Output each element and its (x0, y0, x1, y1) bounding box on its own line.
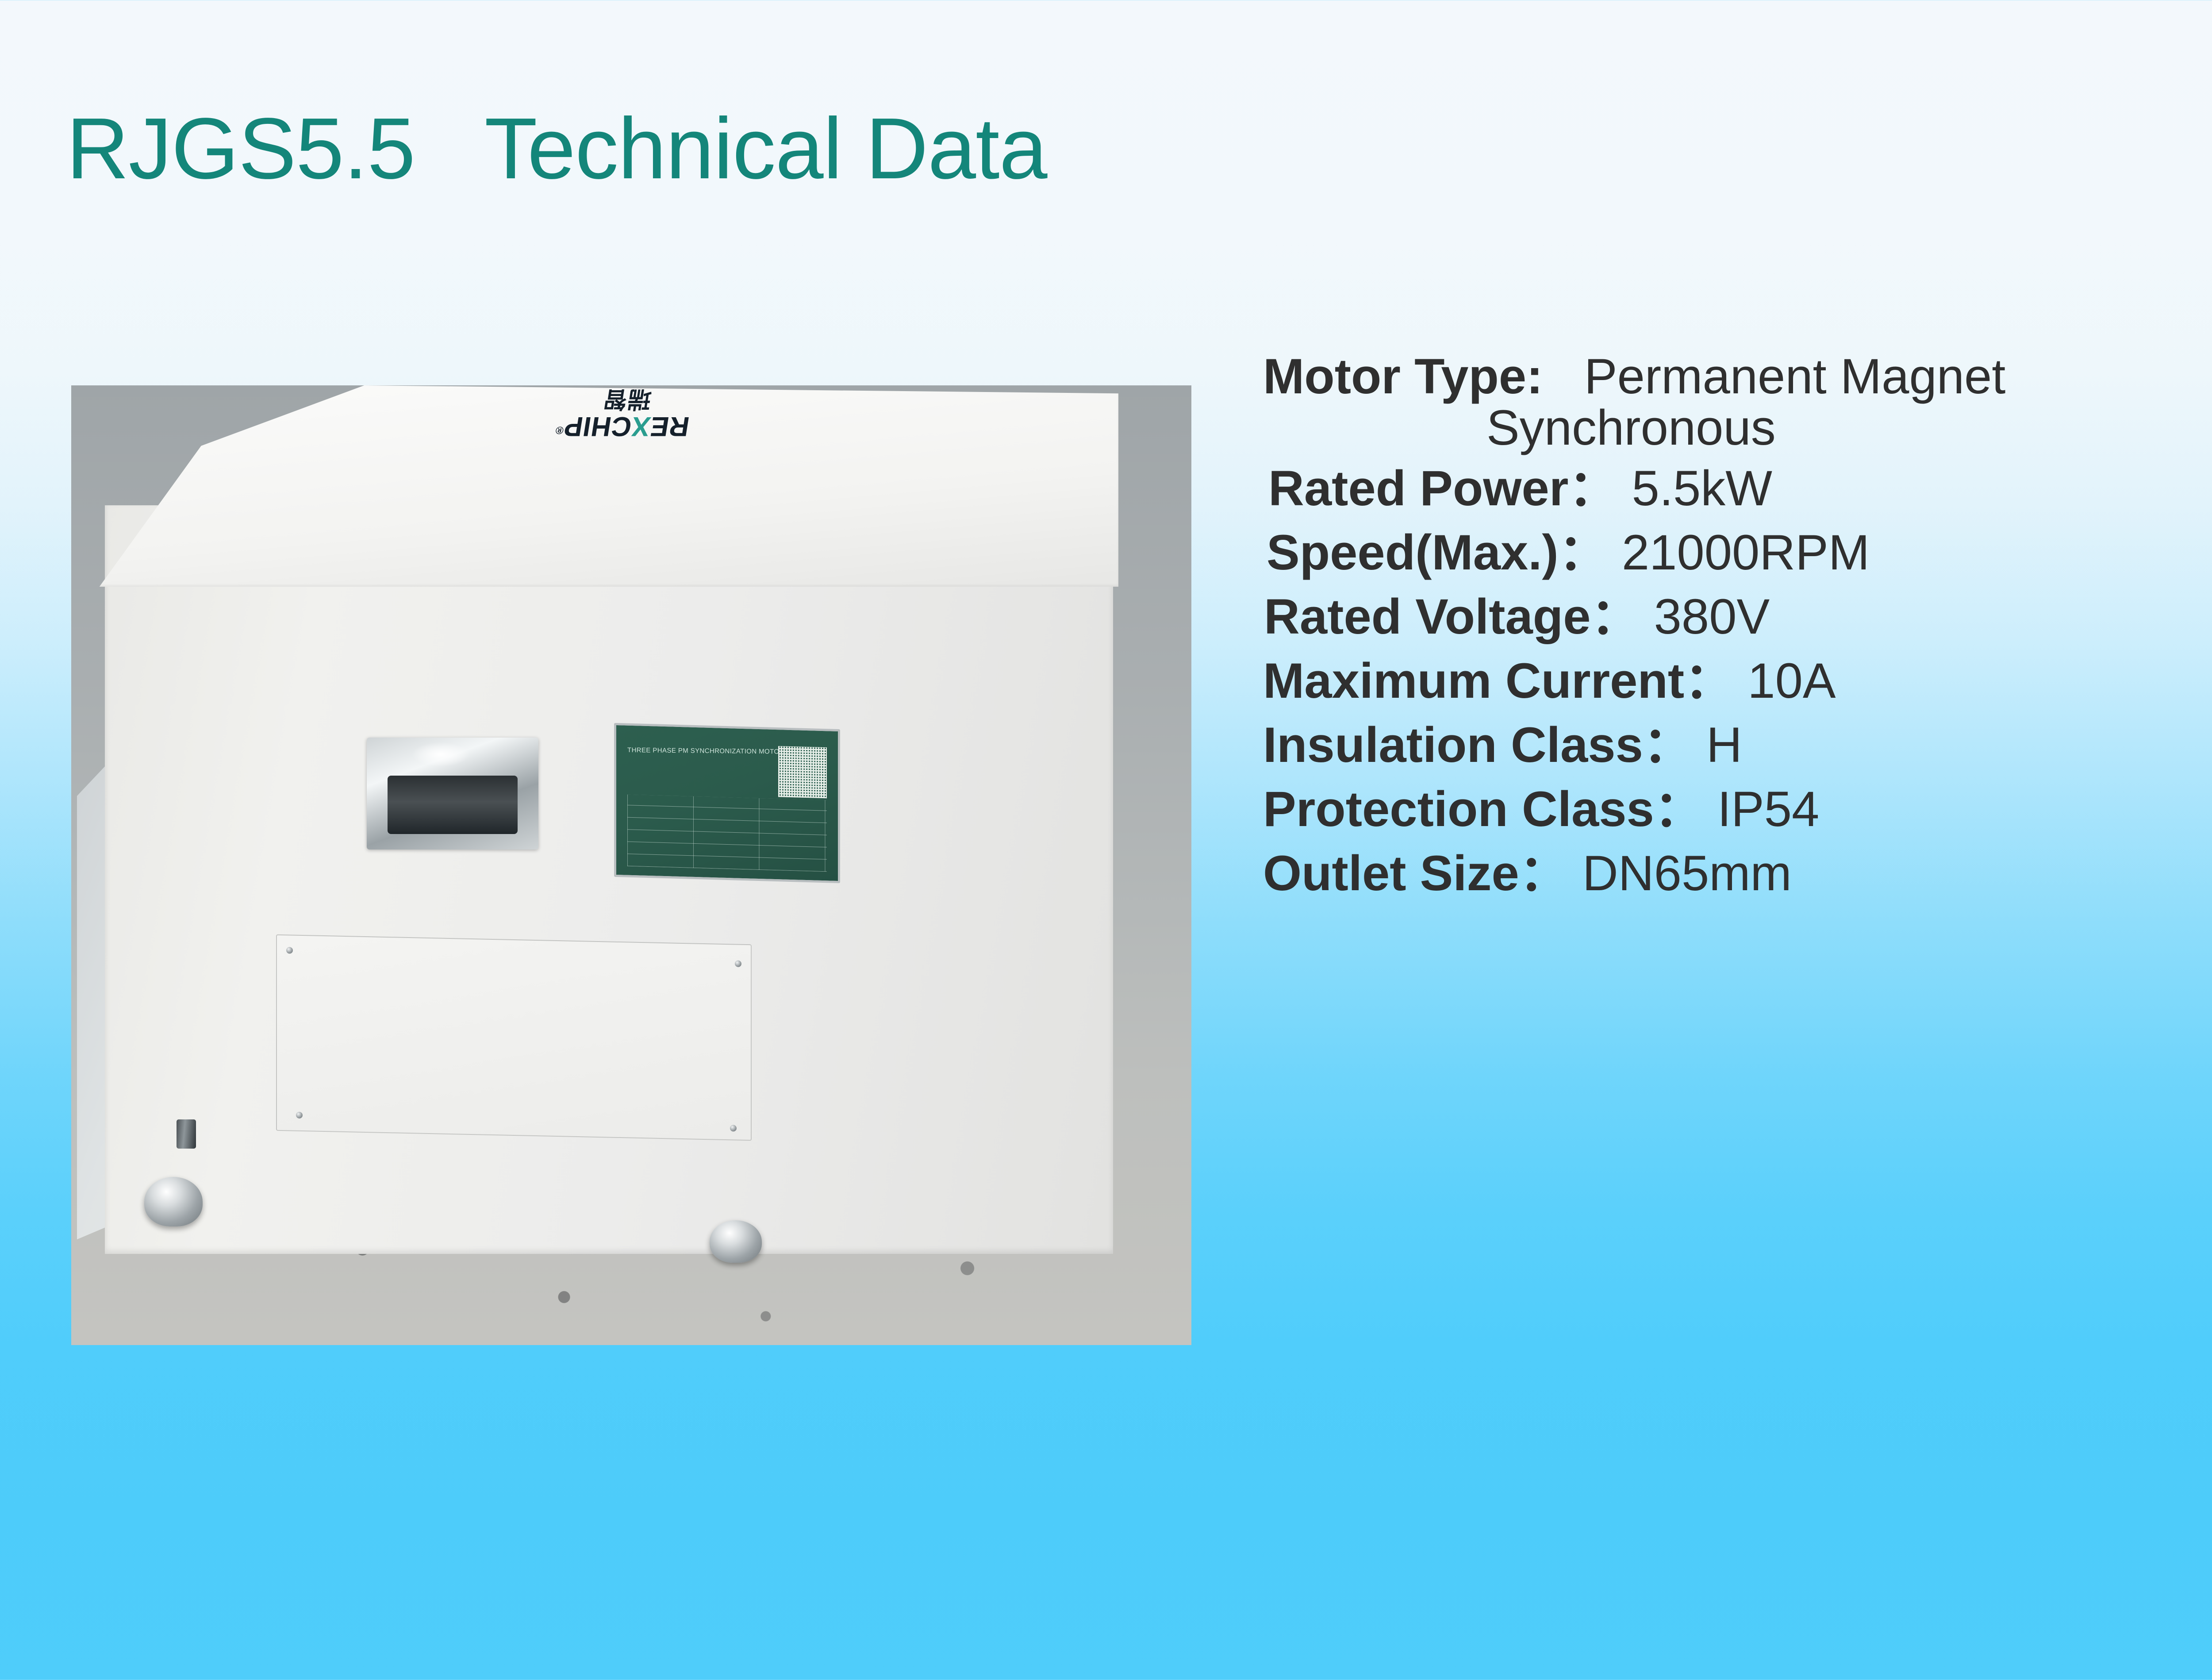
spec-label: Insulation Class： (1263, 717, 1693, 773)
handle-glint (411, 742, 470, 767)
spec-row-insulation-class: Insulation Class： H (1263, 720, 2212, 770)
foot-stem (177, 1119, 196, 1149)
spec-value: DN65mm (1582, 846, 1792, 901)
spec-label: Motor Type: (1263, 349, 1543, 404)
qr-code-icon (778, 746, 827, 799)
spec-label: Maximum Current： (1263, 653, 1734, 708)
spec-value: 21000RPM (1622, 525, 1870, 580)
brand-logo-chinese: 瑞智 (558, 388, 695, 411)
recessed-handle (367, 738, 538, 850)
spec-label: Rated Power： (1268, 461, 1618, 516)
spec-label: Speed(Max.)： (1267, 525, 1608, 580)
motor-nameplate: THREE PHASE PM SYNCHRONIZATION MOTOR (614, 723, 840, 884)
product-photo: THREE PHASE PM SYNCHRONIZATION MOTOR REX… (71, 385, 1191, 1345)
screw-icon (730, 1125, 737, 1132)
spec-value-text: Permanent Magnet (1584, 349, 2006, 404)
blower-front-panel: THREE PHASE PM SYNCHRONIZATION MOTOR (105, 505, 1113, 1254)
nameplate-spec-grid (627, 795, 827, 872)
spec-row-speed-max: Speed(Max.)： 21000RPM (1267, 528, 2212, 577)
spec-row-protection-class: Protection Class： IP54 (1263, 784, 2212, 834)
spec-label: Outlet Size： (1263, 846, 1569, 901)
screw-icon (287, 947, 293, 954)
screw-icon (735, 961, 741, 967)
spec-label: Rated Voltage： (1264, 589, 1640, 644)
spec-row-outlet-size: Outlet Size： DN65mm (1263, 849, 2212, 898)
spec-label: Protection Class： (1263, 781, 1704, 837)
brand-logo-text: REXCHIP® (554, 412, 691, 440)
spec-value: 5.5kW (1632, 461, 1772, 516)
specifications-list: Motor Type: Permanent Magnet Synchronous… (1263, 352, 2212, 913)
spec-row-motor-type: Motor Type: Permanent Magnet (1263, 352, 2212, 401)
mounting-foot (144, 1177, 203, 1226)
brand-logo: REXCHIP® 瑞智 (554, 388, 695, 440)
spec-row-rated-power: Rated Power： 5.5kW (1268, 464, 2212, 513)
spec-value: 380V (1654, 589, 1770, 644)
access-panel (276, 934, 752, 1141)
spec-value: 10A (1747, 653, 1836, 708)
page-title: RJGS5.5 Technical Data (66, 104, 1047, 193)
spec-value: H (1706, 717, 1742, 773)
spec-row-maximum-current: Maximum Current： 10A (1263, 656, 2212, 706)
nameplate-title: THREE PHASE PM SYNCHRONIZATION MOTOR (627, 746, 791, 756)
mounting-foot (710, 1220, 762, 1263)
screw-icon (296, 1112, 303, 1119)
spec-value (1543, 349, 1584, 404)
spec-value: IP54 (1717, 781, 1819, 837)
spec-value-continued: Synchronous (1486, 403, 2212, 453)
spec-row-rated-voltage: Rated Voltage： 380V (1264, 592, 2212, 642)
